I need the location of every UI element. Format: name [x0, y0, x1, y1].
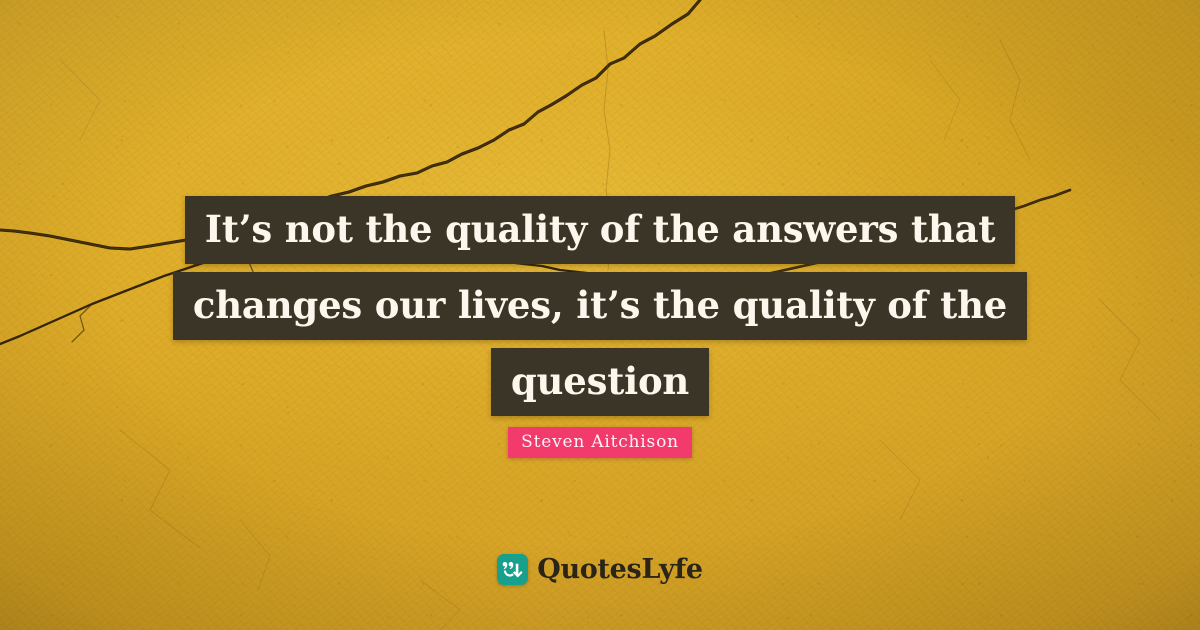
quote-line-3: question — [491, 348, 709, 416]
author-attribution: Steven Aitchison — [0, 427, 1200, 458]
quote-line-1: It’s not the quality of the answers that — [185, 196, 1016, 264]
quote-poster: It’s not the quality of the answers that… — [0, 0, 1200, 630]
author-name-badge: Steven Aitchison — [508, 427, 692, 458]
brand-logo: QuotesLyfe — [0, 554, 1200, 585]
quote-text-block: It’s not the quality of the answers that… — [0, 196, 1200, 416]
quote-smiley-icon — [497, 554, 528, 585]
brand-wordmark: QuotesLyfe — [537, 556, 703, 583]
quote-line-2: changes our lives, it’s the quality of t… — [173, 272, 1027, 340]
